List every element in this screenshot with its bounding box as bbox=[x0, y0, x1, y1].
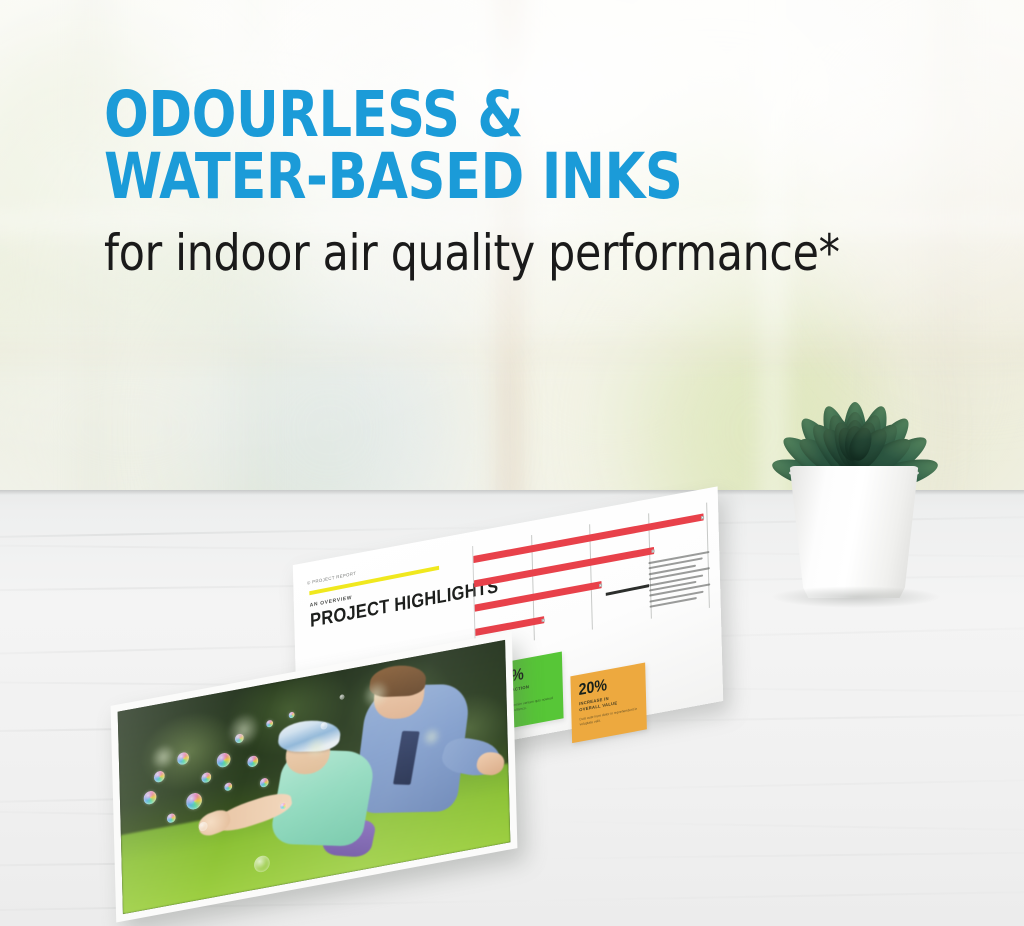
chart-endpoint-marker bbox=[651, 549, 654, 553]
chart-endpoint-marker bbox=[701, 515, 704, 519]
chart-bar bbox=[475, 581, 602, 612]
headline-block: ODOURLESS & WATER-BASED INKS for indoor … bbox=[104, 84, 964, 280]
page-title: ODOURLESS & WATER-BASED INKS bbox=[104, 84, 904, 208]
pot-shadow bbox=[771, 586, 941, 608]
chart-bar bbox=[473, 513, 703, 563]
marketing-banner: © PROJECT REPORT AN OVERVIEW PROJECT HIG… bbox=[0, 0, 1024, 926]
photo-print bbox=[111, 632, 518, 923]
photo-gloss bbox=[118, 640, 511, 914]
potted-succulent bbox=[765, 340, 945, 600]
chart-endpoint-marker bbox=[542, 618, 545, 622]
page-subtitle: for indoor air quality performance* bbox=[104, 226, 921, 280]
chart-endpoint-marker bbox=[599, 583, 602, 587]
plant-pot bbox=[787, 466, 921, 598]
stat-tile: 20%INCREASE IN OVERALL VALUEDuis aute ir… bbox=[570, 663, 646, 744]
photo-image bbox=[118, 640, 511, 914]
